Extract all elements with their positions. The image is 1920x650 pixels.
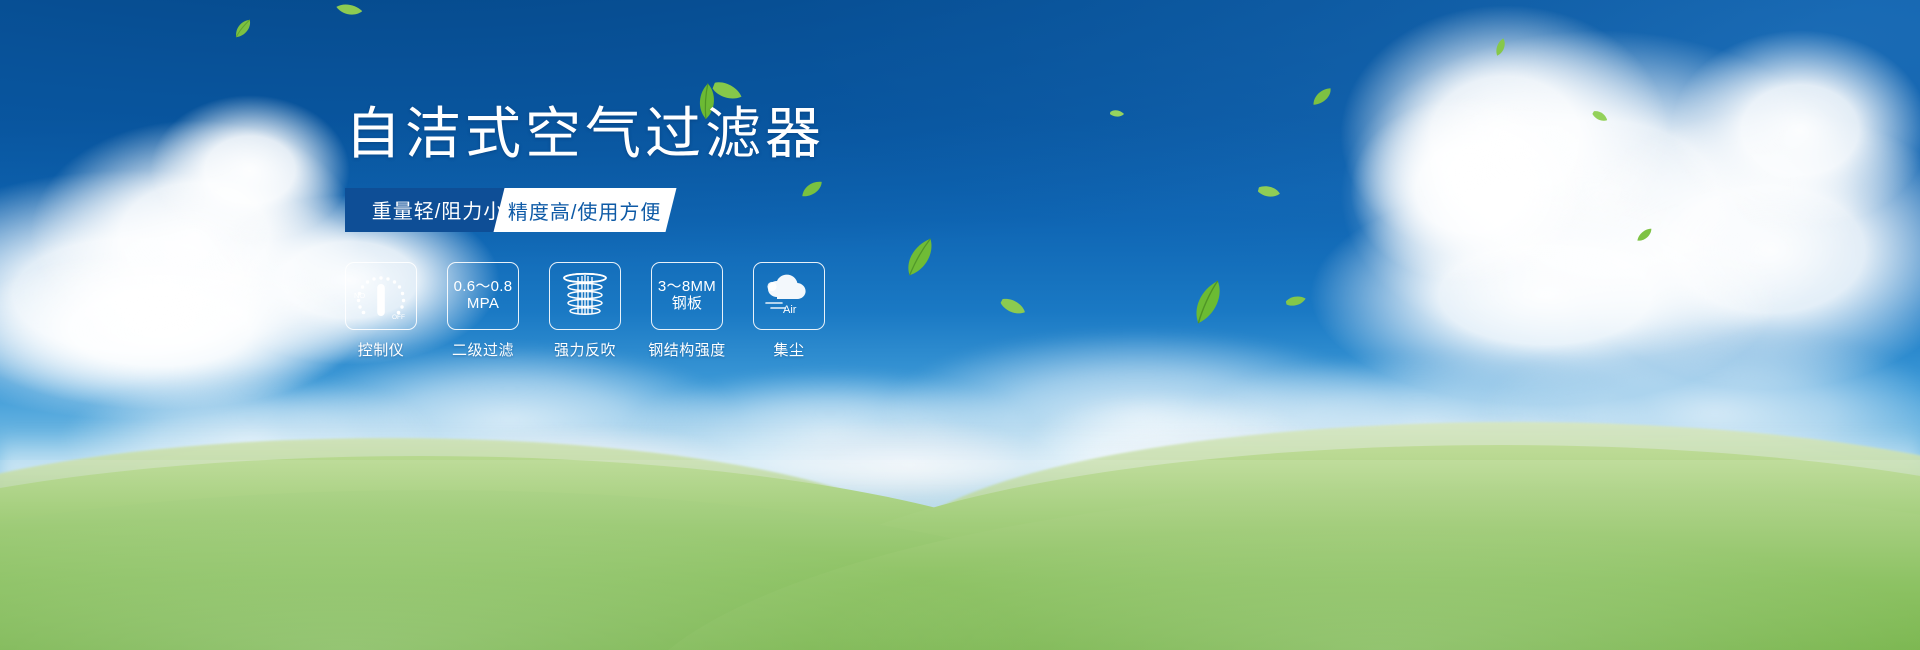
tag-precision-convenience-label: 精度高/使用方便 [508,195,662,224]
svg-text:OFF: OFF [392,314,405,321]
feature-box-controller: NO OFF [345,262,417,330]
cloud-puff [1560,110,1920,390]
feature-item-secondary-filter[interactable]: 0.6～0.8 MPA 二级过滤 [447,262,519,360]
cloud-puff [1340,5,1670,265]
tag-precision-convenience[interactable]: 精度高/使用方便 [494,188,677,232]
leaf-icon [1491,37,1510,57]
pressure-unit-text: MPA [467,296,499,313]
leaf-icon [1257,184,1281,201]
pressure-range-text: 0.6～0.8 [454,279,513,296]
air-cloud-icon: Air [761,273,817,319]
cloud-puff [1310,185,1780,405]
leaf-icon [1183,279,1232,326]
feature-label-secondary-filter: 二级过滤 [452,339,514,360]
feature-label-controller: 控制仪 [358,339,405,360]
cloud-puff [30,120,360,350]
steel-thickness-text: 3～8MM [658,279,716,296]
feature-label-backblow: 强力反吹 [554,339,616,360]
feature-label-dust-collection: 集尘 [773,339,804,360]
feature-box-dust-collection: Air [753,262,825,330]
cloud-puff [0,250,360,410]
feature-box-backblow [549,262,621,330]
leaf-icon [1110,109,1125,119]
leaf-icon [230,18,256,40]
steel-material-text: 钢板 [672,296,703,313]
banner-text-block: 自洁式空气过滤器 重量轻/阻力小 精度高/使用方便 [345,105,1105,360]
gauge-dial-icon: NO OFF [352,270,410,322]
leaf-icon [1308,86,1335,107]
feature-label-steel-strength: 钢结构强度 [648,339,726,360]
cloud-puff [150,95,350,245]
svg-text:NO: NO [354,291,365,300]
grass-hills-layer [0,390,1920,650]
cloud-puff [1670,30,1920,230]
leaf-icon [1285,295,1306,309]
filter-cartridge-icon [559,271,611,321]
tag-row: 重量轻/阻力小 精度高/使用方便 [345,188,671,232]
feature-icon-row: NO OFF 控制仪 0.6～0.8 MPA 二级过滤 [345,262,1105,360]
feature-box-secondary-filter: 0.6～0.8 MPA [447,262,519,330]
cloud-puff [1340,30,1860,360]
product-hero-banner: 自洁式空气过滤器 重量轻/阻力小 精度高/使用方便 [0,0,1920,650]
leaf-icon [1591,109,1609,125]
feature-item-dust-collection[interactable]: Air 集尘 [753,262,825,360]
feature-item-backblow[interactable]: 强力反吹 [549,262,621,360]
feature-box-steel-strength: 3～8MM 钢板 [651,262,723,330]
leaf-icon [335,0,363,19]
cloud-puff [1350,95,1590,285]
leaf-icon [1635,227,1655,242]
feature-item-steel-strength[interactable]: 3～8MM 钢板 钢结构强度 [651,262,723,360]
cloud-puff [0,170,390,420]
page-title: 自洁式空气过滤器 [345,105,1105,164]
feature-item-controller[interactable]: NO OFF 控制仪 [345,262,417,360]
air-label: Air [783,304,797,316]
